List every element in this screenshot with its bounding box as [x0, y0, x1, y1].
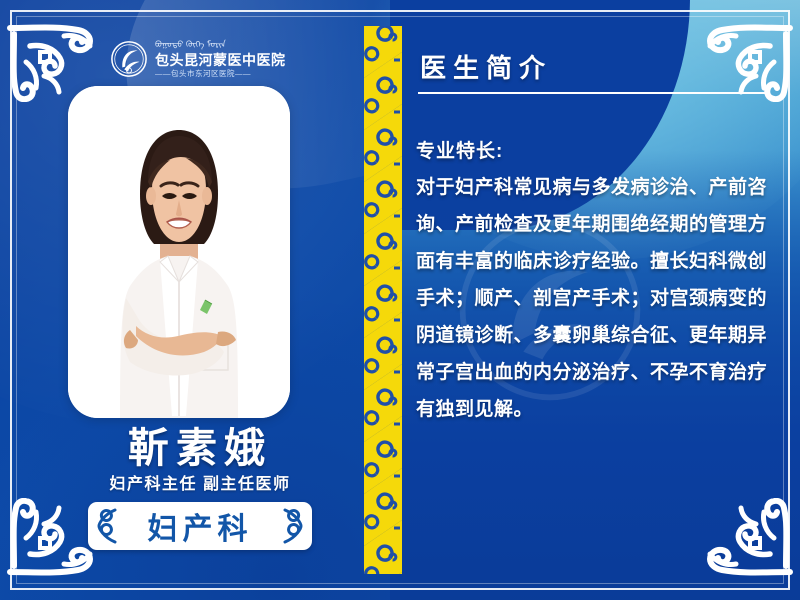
cloud-scroll-corner-icon-bottom-right [700, 498, 796, 584]
intro-lead: 专业特长: [416, 136, 772, 163]
doctor-titles: 妇产科主任 副主任医师 [0, 470, 400, 494]
cloud-scroll-bracket-icon-right [277, 507, 307, 545]
hospital-name: 包头昆河蒙医中医院 [155, 53, 286, 67]
cloud-scroll-corner-icon-bottom-left [4, 498, 100, 584]
doctor-photo-card [68, 86, 290, 418]
hospital-subname: ——包头市东河区医院—— [155, 70, 286, 78]
department-badge[interactable]: 妇产科 [88, 502, 312, 550]
department-label: 妇产科 [148, 504, 253, 548]
cloud-scroll-bracket-icon-left [93, 507, 123, 545]
intro-body: 对于妇产科常见病与多发病诊治、产前咨询、产前检查及更年期围绝经期的管理方面有丰富… [416, 169, 772, 428]
hospital-logo-block: ᠪᠤᠭᠤᠲᠤ ᠬᠥᠬᠡ ᠮᠣᠷᠢᠨ 包头昆河蒙医中医院 ——包头市东河区医院—— [110, 34, 320, 84]
doctor-portrait [68, 86, 290, 418]
cloud-scroll-corner-icon-top-right [700, 16, 796, 102]
hospital-mongolian-name: ᠪᠤᠭᠤᠲᠤ ᠬᠥᠬᠡ ᠮᠣᠷᠢᠨ [155, 41, 286, 50]
section-title: 医生简介 [420, 48, 552, 85]
section-title-rule [418, 92, 766, 94]
intro-body-wrap: 专业特长: 对于妇产科常见病与多发病诊治、产前咨询、产前检查及更年期围绝经期的管… [416, 136, 772, 428]
hospital-emblem-icon [110, 40, 148, 78]
doctor-name: 靳素娥 [0, 414, 400, 474]
doctor-profile-card: ᠪᠤᠭᠤᠲᠤ ᠬᠥᠬᠡ ᠮᠣᠷᠢᠨ 包头昆河蒙医中医院 ——包头市东河区医院—— [0, 0, 800, 600]
